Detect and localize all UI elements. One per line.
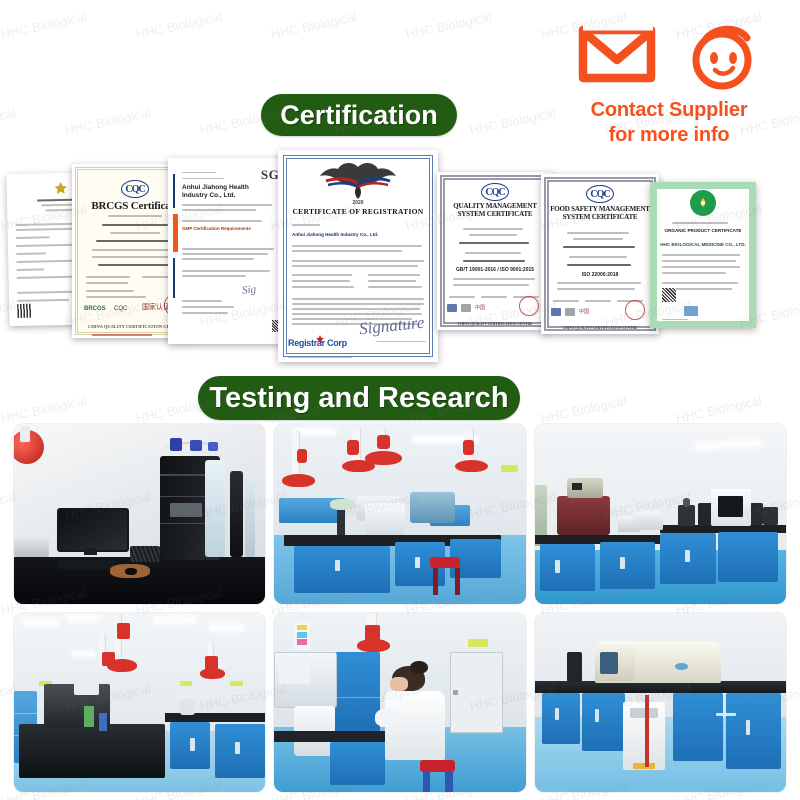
photo-4-cleanroom-lab[interactable]: Clean laboratory room with extraction ar… xyxy=(14,613,265,793)
watermark-text: HHC Biological xyxy=(0,9,88,42)
certificate-3-title: Anhui Jiahong Health Industry Co., Ltd. xyxy=(182,184,268,200)
testing-research-badge: Testing and Research xyxy=(198,376,520,420)
certificate-7-organic[interactable]: ORGANIC PRODUCT CERTIFICATE HHC BIOLOGIC… xyxy=(650,182,756,328)
certificate-5-subtitle: GB/T 19001-2016 / ISO 9001:2015 xyxy=(437,267,553,273)
photo-5-technician-working[interactable]: Technician in white lab coat operating e… xyxy=(274,613,525,793)
certificate-3-subtitle: GMP Certification Requirements xyxy=(182,226,274,232)
certificate-7-title: ORGANIC PRODUCT CERTIFICATE xyxy=(660,228,746,234)
certificate-3-sgs[interactable]: SGS Anhui Jiahong Health Industry Co., L… xyxy=(168,158,292,344)
contact-supplier-block[interactable]: Contact Supplier for more info xyxy=(540,14,798,154)
watermark-text: HHC Biological xyxy=(404,9,493,42)
certificate-6-subtitle: ISO 22000:2018 xyxy=(541,272,659,278)
envelope-icon[interactable] xyxy=(575,20,659,93)
certificate-5-title: QUALITY MANAGEMENT SYSTEM CERTIFICATE xyxy=(437,203,553,219)
certificate-5-quality-management[interactable]: CQC QUALITY MANAGEMENT SYSTEM CERTIFICAT… xyxy=(437,172,553,330)
certificate-4-registrar-corp[interactable]: 2020 CERTIFICATE OF REGISTRATION Anhui J… xyxy=(278,150,438,362)
certificates-strip: CQC BRCGS Certificate BRCGS CQC 国家认证 CHI… xyxy=(0,150,800,365)
certificate-4-subtitle: Anhui Jiahong Health Industry Co., Ltd. xyxy=(292,232,424,239)
watermark-text: HHC Biological xyxy=(269,9,358,42)
cqc-mark: CQC xyxy=(121,180,149,198)
smiling-face-icon[interactable] xyxy=(681,18,763,95)
photo-6-spectrometer-bench[interactable]: Large analytical spectrometer instrument… xyxy=(535,613,786,793)
lab-photo-grid: HPLC analysis instrument with computer w… xyxy=(14,424,786,792)
contact-line-1: Contact Supplier xyxy=(540,98,798,123)
contact-icons xyxy=(540,14,798,98)
certificate-6-issuer: CHINA QUALITY CERTIFICATION CENTRE xyxy=(541,326,659,330)
cqc-mark: CQC xyxy=(481,183,509,201)
certificate-7-subtitle: HHC BIOLOGICAL MEDICINE CO., LTD. xyxy=(660,242,746,247)
green-leaf-seal-icon xyxy=(690,190,716,216)
contact-line-2: for more info xyxy=(540,123,798,148)
certificate-5-issuer: CHINA QUALITY CERTIFICATION CENTRE xyxy=(437,322,553,326)
certificate-6-food-safety[interactable]: CQC FOOD SAFETY MANAGEMENT SYSTEM CERTIF… xyxy=(541,174,659,334)
certificate-4-title: CERTIFICATE OF REGISTRATION xyxy=(278,208,438,216)
watermark-text: HHC Biological xyxy=(0,393,88,426)
watermark-text: HHC Biological xyxy=(0,105,17,138)
photo-1-hplc-workstation[interactable]: HPLC analysis instrument with computer w… xyxy=(14,424,265,604)
watermark-text: HHC Biological xyxy=(674,393,763,426)
contact-supplier-text: Contact Supplier for more info xyxy=(540,98,798,148)
certification-badge: Certification xyxy=(261,94,457,136)
photo-2-laboratory-benches[interactable]: Laboratory with blue benches and red fum… xyxy=(274,424,525,604)
watermark-text: HHC Biological xyxy=(134,9,223,42)
cqc-mark: CQC xyxy=(586,185,614,203)
certification-and-lab-page: Contact Supplier for more info xyxy=(0,0,800,800)
photo-3-instrument-room[interactable]: Testing room with microscopes and instru… xyxy=(535,424,786,604)
watermark-text: HHC Biological xyxy=(539,393,628,426)
watermark-text: HHC Biological xyxy=(63,105,152,138)
certificate-6-title: FOOD SAFETY MANAGEMENT SYSTEM CERTIFICAT… xyxy=(541,206,659,222)
